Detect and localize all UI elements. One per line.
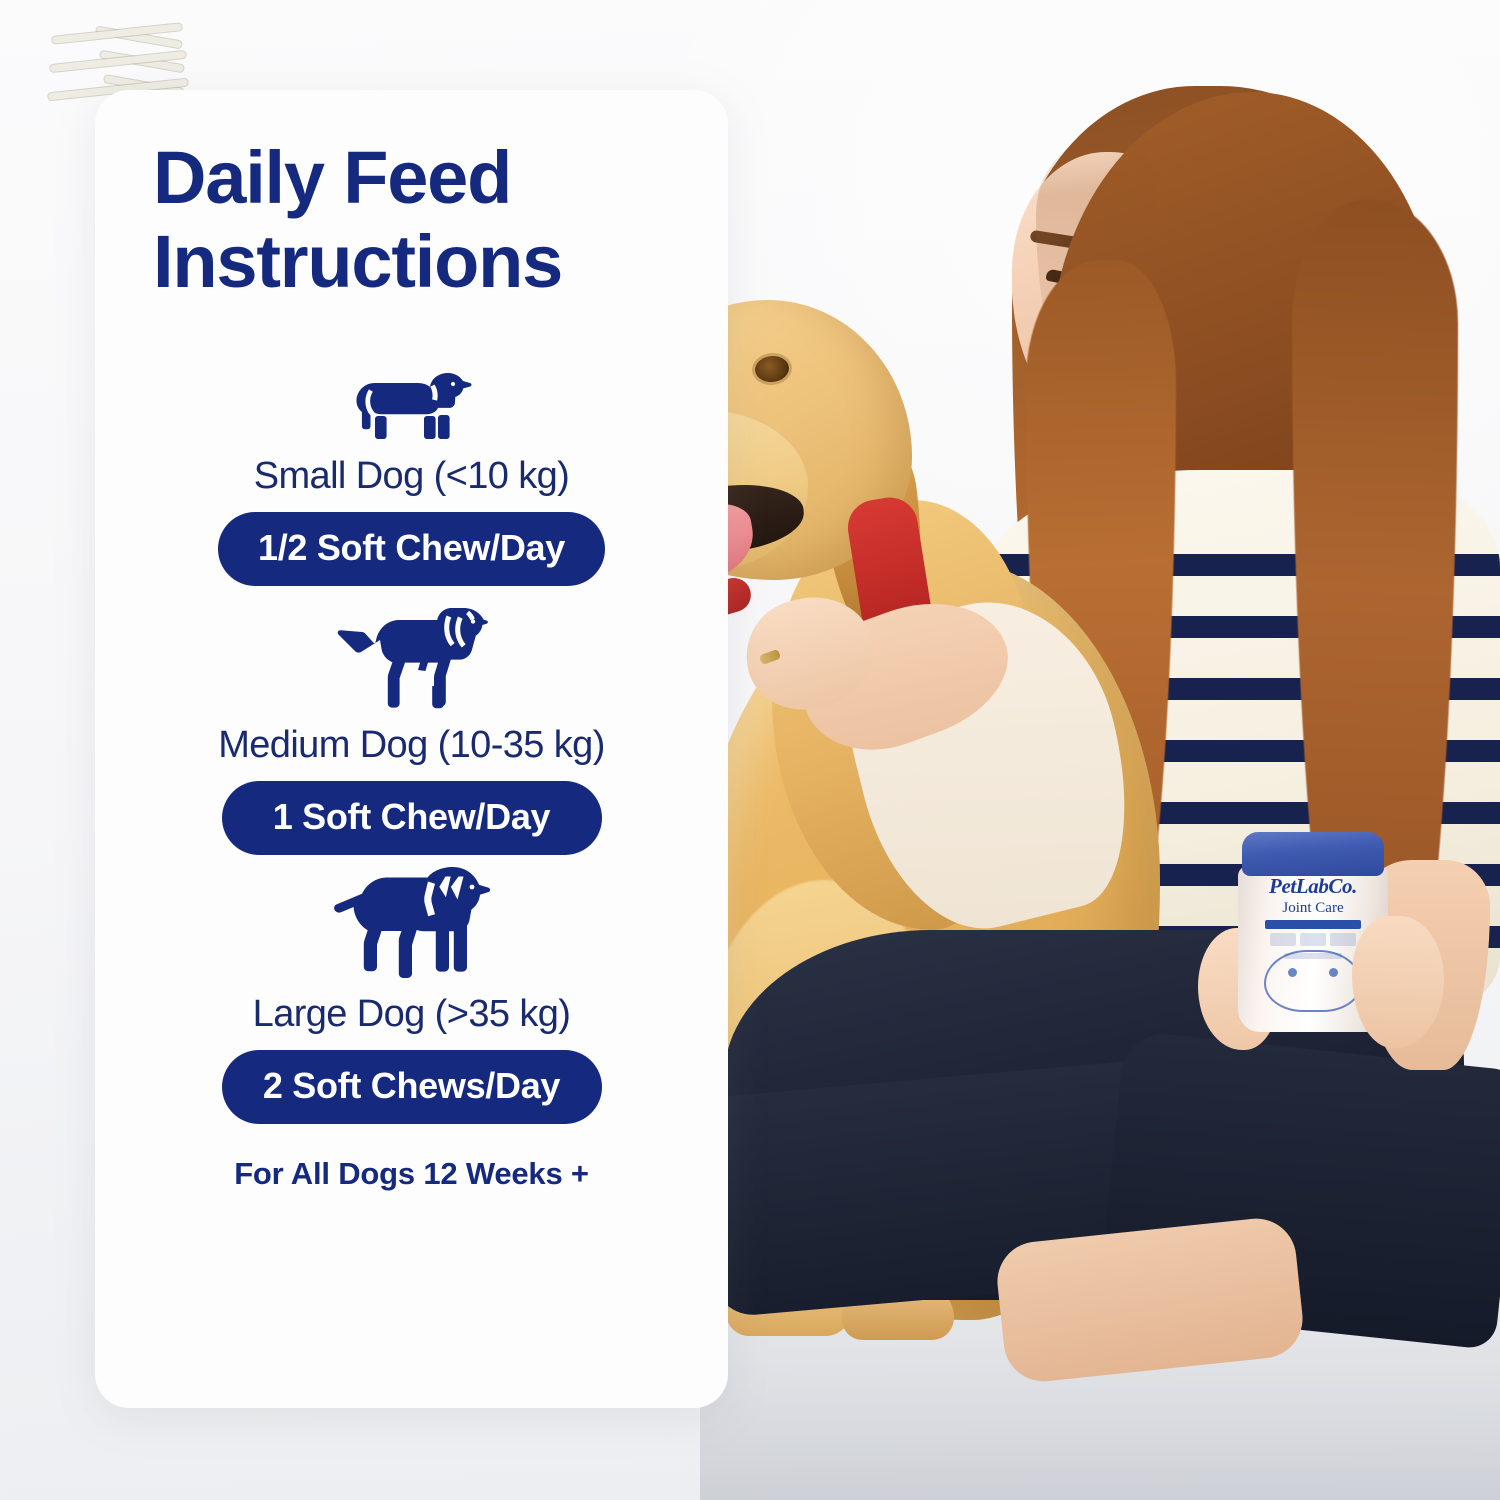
medium-dog-dose-pill[interactable]: 1 Soft Chew/Day bbox=[222, 781, 602, 855]
dachshund-small-dog-icon bbox=[352, 369, 472, 441]
feeding-row-small: Small Dog (<10 kg) 1/2 Soft Chew/Day bbox=[129, 349, 694, 586]
jar-product-name: Joint Care bbox=[1238, 900, 1388, 917]
small-dog-dose-pill[interactable]: 1/2 Soft Chew/Day bbox=[218, 512, 605, 586]
daily-feed-instructions-card: Daily Feed Instructions Small Dog (<10 k… bbox=[95, 90, 728, 1408]
jar-brand-name: PetLabCo. bbox=[1238, 874, 1388, 899]
promo-image: PetLabCo. Joint Care Daily Feed Instruct… bbox=[0, 0, 1500, 1500]
large-dog-icon-container bbox=[129, 887, 694, 979]
age-footnote: For All Dogs 12 Weeks + bbox=[129, 1156, 694, 1192]
jar-dog-line-art-icon bbox=[1264, 950, 1362, 1012]
small-dog-icon-container bbox=[129, 349, 694, 441]
feeding-row-large: Large Dog (>35 kg) 2 Soft Chews/Day bbox=[129, 887, 694, 1124]
feeding-row-medium: Medium Dog (10-35 kg) 1 Soft Chew/Day bbox=[129, 618, 694, 855]
page-title: Daily Feed Instructions bbox=[153, 136, 694, 305]
medium-dog-icon-container bbox=[129, 618, 694, 710]
jar-tagline-bar bbox=[1265, 920, 1361, 929]
standing-medium-dog-icon bbox=[336, 606, 488, 710]
large-dog-dose-pill[interactable]: 2 Soft Chews/Day bbox=[222, 1050, 602, 1124]
jar-lid bbox=[1242, 832, 1384, 876]
large-dog-label: Large Dog (>35 kg) bbox=[129, 993, 694, 1036]
small-dog-label: Small Dog (<10 kg) bbox=[129, 455, 694, 498]
medium-dog-label: Medium Dog (10-35 kg) bbox=[129, 724, 694, 767]
feeding-rows: Small Dog (<10 kg) 1/2 Soft Chew/Day bbox=[129, 349, 694, 1124]
mastiff-large-dog-icon bbox=[331, 865, 493, 979]
